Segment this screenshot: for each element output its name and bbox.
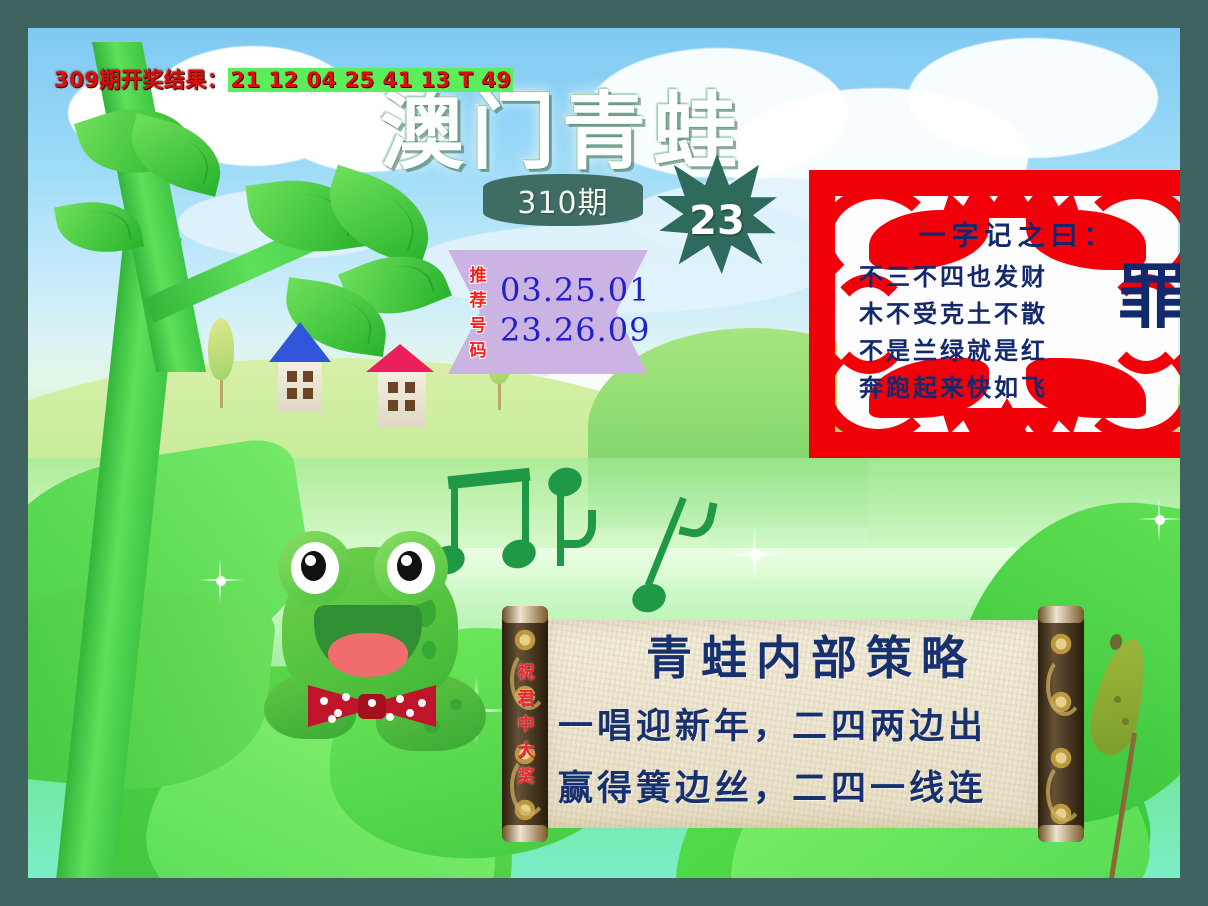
house-window <box>303 371 313 382</box>
draw-result-line: 309期开奖结果：21 12 04 25 41 13 T 49 <box>54 64 513 94</box>
frog-pupil <box>397 551 422 581</box>
sparkle <box>198 558 244 604</box>
cattail-plant <box>1088 638 1178 878</box>
poem-heading: 一字记之曰： <box>865 214 1170 253</box>
frog-eye-right <box>374 531 448 605</box>
frog-eye-left <box>278 531 352 605</box>
poster-stage: 澳门青蛙 310期 23 推 荐 号 码 03.25.01 23.26.09 <box>28 28 1180 878</box>
frog-spot <box>422 641 436 659</box>
draw-result-numbers: 21 12 04 25 41 13 T 49 <box>228 68 513 92</box>
recommend-label-char: 荐 <box>465 289 491 314</box>
strategy-scroll: 祝 君 中 大 奖 青蛙内部策略 一唱迎新年，二四两边出 赢得簧边丝，二四一线连 <box>502 606 1084 842</box>
burst-badge: 23 <box>657 154 777 274</box>
blue-roof-house <box>278 360 322 412</box>
house-window <box>388 382 398 393</box>
frog-tongue <box>328 633 408 677</box>
poster-root: 澳门青蛙 310期 23 推 荐 号 码 03.25.01 23.26.09 <box>0 0 1208 906</box>
rod-char: 祝 <box>514 660 538 686</box>
scroll-line-2: 赢得簧边丝，二四一线连 <box>558 760 1060 811</box>
recommended-numbers-panel: 推 荐 号 码 03.25.01 23.26.09 <box>448 250 648 374</box>
recommend-label-char: 推 <box>465 264 491 289</box>
sparkle <box>728 528 782 582</box>
scroll-line-1: 一唱迎新年，二四两边出 <box>558 698 1060 749</box>
burst-number: 23 <box>657 154 777 274</box>
shrub <box>208 318 234 380</box>
scroll-title: 青蛙内部策略 <box>588 622 1034 688</box>
rod-char: 奖 <box>514 764 538 790</box>
frog-bowtie <box>308 681 436 731</box>
dragon-border-panel: 一字记之曰： 不三不四也发财 木不受克土不散 不是兰绿就是红 奔跑起来快如飞 罪 <box>809 170 1180 458</box>
draw-result-label: 309期开奖结果： <box>54 68 228 92</box>
eighth-note-flag-icon <box>548 468 618 578</box>
red-roof-house <box>378 370 426 428</box>
eighth-note-icon <box>616 498 726 608</box>
house-window <box>287 371 297 382</box>
recommend-label-char: 号 <box>465 314 491 339</box>
rod-char: 中 <box>514 712 538 738</box>
cattail-dot <box>1122 718 1129 725</box>
house-window <box>405 400 415 411</box>
frog-eyeball <box>387 542 435 594</box>
house-window <box>287 388 297 399</box>
frog-pupil <box>301 551 326 581</box>
house-window <box>405 382 415 393</box>
recommend-numbers: 03.25.01 23.26.09 <box>500 270 651 350</box>
recommend-label-char: 码 <box>465 339 491 364</box>
recommend-line-1: 03.25.01 <box>500 270 651 310</box>
sparkle <box>1138 498 1180 542</box>
poem-line: 奔跑起来快如飞 <box>859 368 1170 403</box>
rod-char: 大 <box>514 738 538 764</box>
recommend-label: 推 荐 号 码 <box>465 264 491 364</box>
frog-spot <box>450 699 462 710</box>
rod-char: 君 <box>514 686 538 712</box>
big-character: 罪 <box>1118 262 1180 332</box>
scroll-rod-text: 祝 君 中 大 奖 <box>514 660 538 790</box>
period-banner: 310期 <box>483 174 643 226</box>
frog-eyeball <box>291 542 339 594</box>
cloud-shape <box>908 38 1158 158</box>
cattail-dot <box>1114 696 1121 703</box>
recommend-line-2: 23.26.09 <box>500 310 651 350</box>
house-roof-blue <box>269 322 331 362</box>
house-roof-red <box>366 344 434 372</box>
frog-mascot <box>264 523 494 783</box>
house-window <box>303 388 313 399</box>
house-window <box>388 400 398 411</box>
